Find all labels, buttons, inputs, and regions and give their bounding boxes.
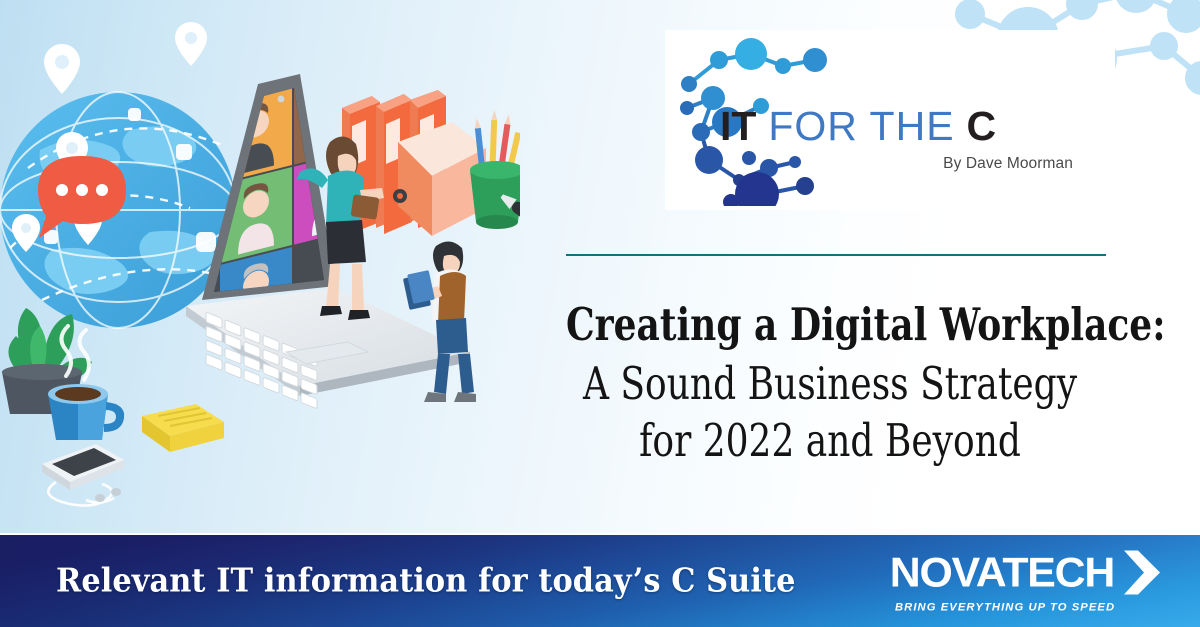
logo-word-for-the: FOR THE	[768, 103, 954, 149]
page-canvas: IT FOR THE C By Dave Moorman Creating a …	[0, 0, 1200, 627]
pencil-cup-illustration	[470, 110, 520, 229]
bottom-banner: Relevant IT information for today’s C Su…	[0, 533, 1200, 627]
person-man-illustration	[403, 241, 476, 402]
novatech-tagline: BRING EVERYTHING UP TO SPEED	[892, 602, 1118, 614]
logo-word-c: C	[966, 103, 996, 149]
logo-word-it: IT	[720, 103, 756, 149]
chevron-right-icon	[1118, 549, 1164, 597]
banner-tagline-text: Relevant IT information for today’s C Su…	[56, 561, 795, 600]
page-title-line-1: Creating a Digital Workplace:	[566, 296, 1094, 355]
banner-tagline: Relevant IT information for today’s C Su…	[56, 561, 860, 600]
smartphone-illustration	[42, 444, 124, 506]
logo-byline: By Dave Moorman	[720, 155, 1080, 173]
logo-wordmark: IT FOR THE C	[720, 106, 1080, 147]
page-title-line-2: A Sound Business Strategy	[566, 355, 1094, 413]
sticky-note-illustration	[142, 404, 224, 452]
it-for-the-c-logo[interactable]: IT FOR THE C By Dave Moorman	[665, 30, 1115, 210]
section-divider	[566, 254, 1106, 256]
novatech-wordmark: NOVATECH	[890, 552, 1114, 594]
page-title: Creating a Digital Workplace: A Sound Bu…	[500, 296, 1160, 470]
digital-workplace-illustration	[0, 0, 520, 535]
page-title-line-3: for 2022 and Beyond	[566, 412, 1094, 470]
novatech-logo[interactable]: NOVATECH BRING EVERYTHING UP TO SPEED	[892, 549, 1164, 614]
